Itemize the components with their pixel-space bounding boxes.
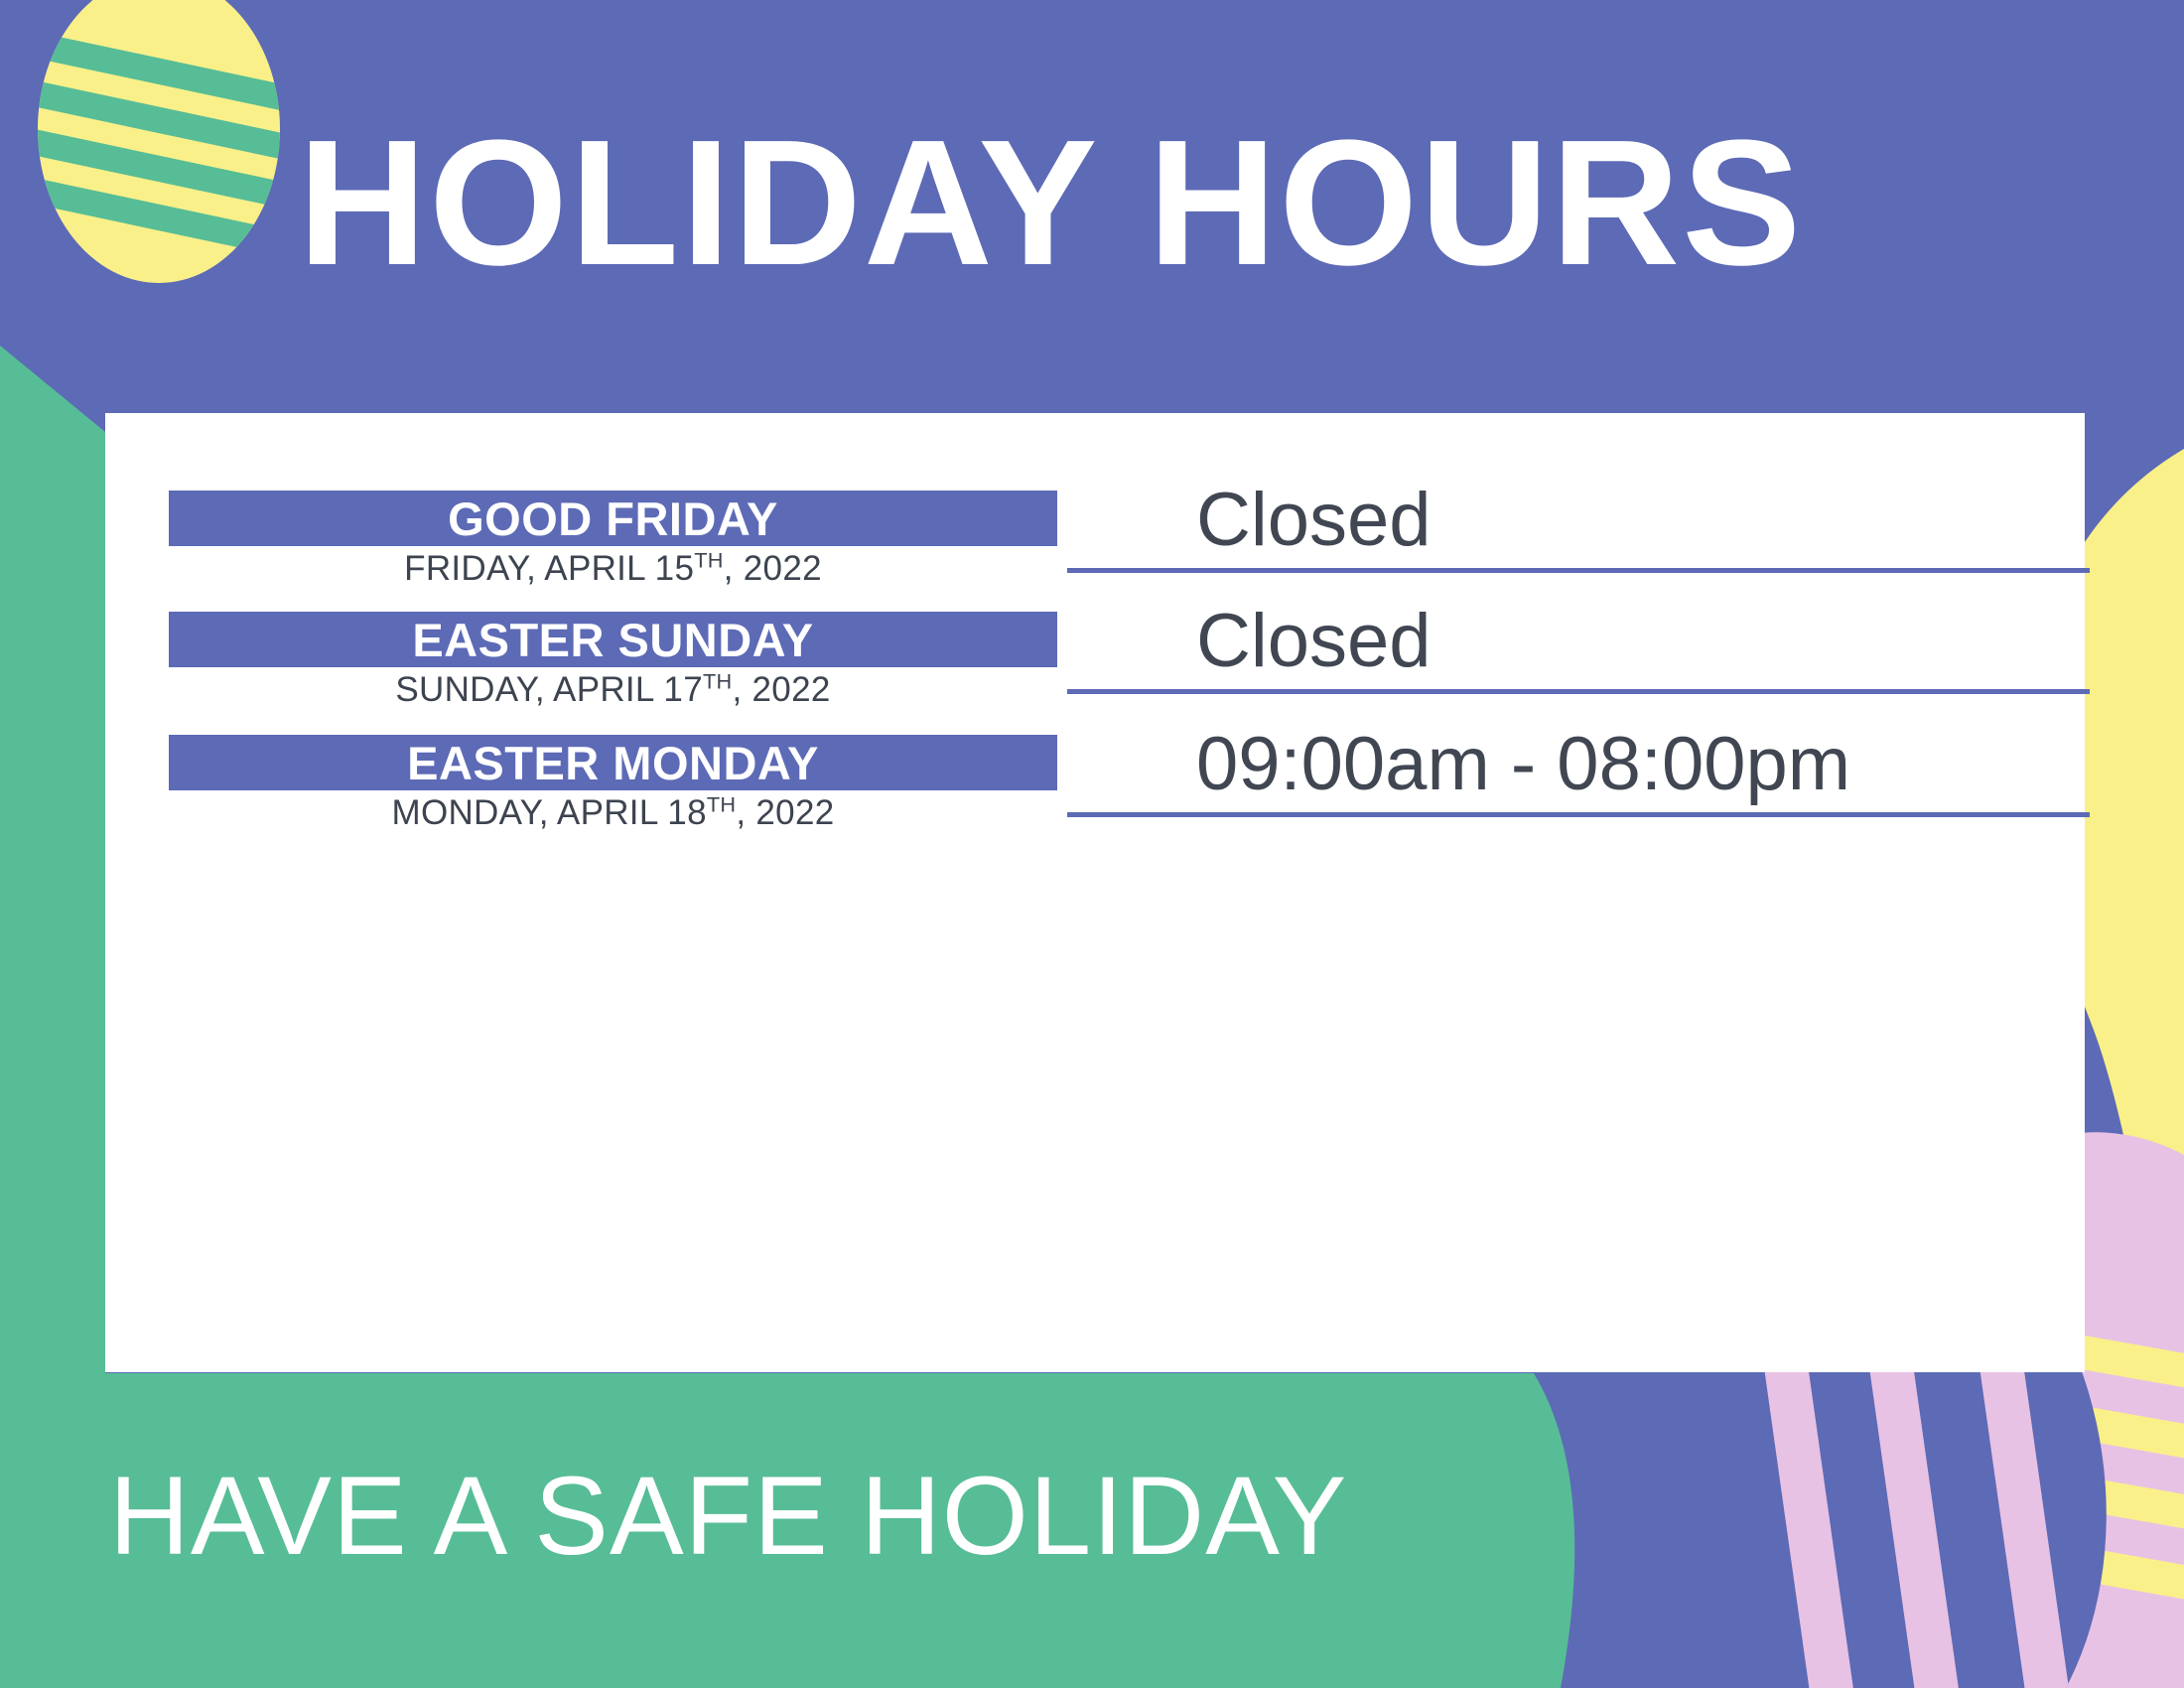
hours-value: Closed bbox=[1196, 482, 1432, 559]
date-suffix: , 2022 bbox=[736, 793, 834, 832]
hours-underline bbox=[1067, 689, 2090, 694]
holiday-name: EASTER MONDAY bbox=[407, 740, 819, 786]
footer-message: HAVE A SAFE HOLIDAY bbox=[109, 1458, 1347, 1575]
schedule-rows: GOOD FRIDAY FRIDAY, APRIL 15TH, 2022 Clo… bbox=[0, 0, 2184, 1688]
hours-underline bbox=[1067, 568, 2090, 573]
holiday-date: FRIDAY, APRIL 15TH, 2022 bbox=[169, 550, 1057, 588]
holiday-date: SUNDAY, APRIL 17TH, 2022 bbox=[169, 671, 1057, 709]
hours-value: Closed bbox=[1196, 603, 1432, 680]
date-suffix: , 2022 bbox=[724, 549, 822, 588]
holiday-hours-poster: HOLIDAY HOURS GOOD FRIDAY FRIDAY, APRIL … bbox=[0, 0, 2184, 1688]
holiday-label-bar: EASTER SUNDAY bbox=[169, 612, 1057, 667]
holiday-label-bar: GOOD FRIDAY bbox=[169, 491, 1057, 546]
holiday-name: EASTER SUNDAY bbox=[412, 617, 813, 663]
hours-cell: Closed bbox=[1067, 456, 2090, 573]
date-ordinal: TH bbox=[707, 791, 737, 816]
date-prefix: SUNDAY, APRIL 17 bbox=[395, 670, 703, 709]
date-suffix: , 2022 bbox=[732, 670, 830, 709]
hours-cell: Closed bbox=[1067, 577, 2090, 694]
holiday-date: MONDAY, APRIL 18TH, 2022 bbox=[169, 794, 1057, 832]
date-ordinal: TH bbox=[694, 547, 724, 572]
holiday-label-bar: EASTER MONDAY bbox=[169, 735, 1057, 790]
hours-value: 09:00am - 08:00pm bbox=[1196, 726, 1850, 803]
holiday-name: GOOD FRIDAY bbox=[448, 495, 778, 542]
date-ordinal: TH bbox=[703, 668, 733, 693]
hours-underline bbox=[1067, 812, 2090, 817]
date-prefix: FRIDAY, APRIL 15 bbox=[404, 549, 694, 588]
hours-cell: 09:00am - 08:00pm bbox=[1067, 700, 2090, 817]
date-prefix: MONDAY, APRIL 18 bbox=[392, 793, 707, 832]
